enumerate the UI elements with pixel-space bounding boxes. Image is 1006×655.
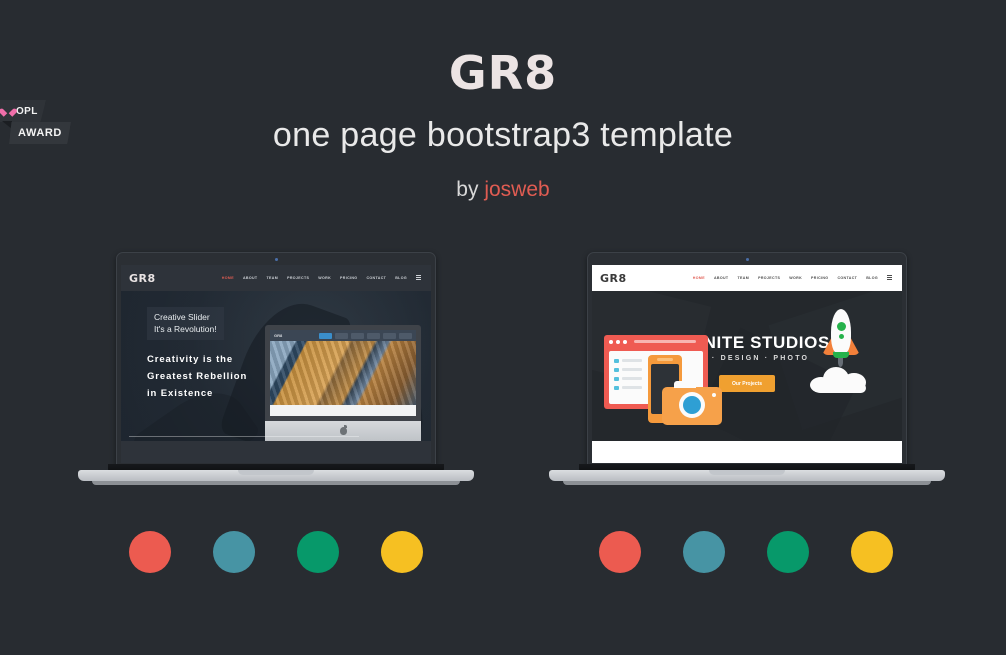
- color-swatch-4[interactable]: [851, 531, 893, 573]
- color-swatch-1[interactable]: [129, 531, 171, 573]
- color-swatch-2[interactable]: [683, 531, 725, 573]
- laptop-mockup-left: GR8 HOMEABOUTTEAMPROJECTSWORKPRICINGCONT…: [78, 252, 474, 488]
- webcam-icon: [746, 258, 749, 261]
- color-swatch-3[interactable]: [767, 531, 809, 573]
- laptop-screen: GR8 HOMEABOUTTEAMPROJECTSWORKPRICINGCONT…: [121, 265, 431, 463]
- camera-lens: [683, 396, 701, 414]
- nav-item-projects[interactable]: PROJECTS: [287, 276, 309, 280]
- nav-item-about[interactable]: ABOUT: [243, 276, 258, 280]
- camera-flash: [712, 393, 716, 397]
- browser-titlebar: [604, 335, 708, 348]
- laptop-notch: [238, 470, 314, 475]
- imac-nav-item: [383, 333, 396, 339]
- rocket-body: [831, 309, 851, 355]
- laptop-foot: [563, 481, 931, 485]
- nav-item-pricing[interactable]: PRICING: [340, 276, 357, 280]
- page-tagline: one page bootstrap3 template: [0, 116, 1006, 155]
- hero-title-line: Greatest Rebellion: [147, 368, 247, 385]
- nav-item-work[interactable]: WORK: [318, 276, 331, 280]
- hero-footer-bar: [121, 441, 431, 463]
- browser-dot: [623, 340, 627, 344]
- imac-nav-item: [367, 333, 380, 339]
- site-nav-items: HOMEABOUTTEAMPROJECTSWORKPRICINGCONTACTB…: [693, 275, 894, 281]
- hero-subtitle-line: It's a Revolution!: [154, 323, 217, 335]
- phone-speaker: [657, 358, 673, 361]
- nav-item-blog[interactable]: BLOG: [866, 276, 878, 280]
- webcam-icon: [275, 258, 278, 261]
- nav-item-contact[interactable]: CONTACT: [366, 276, 386, 280]
- byline-prefix: by: [456, 178, 478, 201]
- hero-title: Creativity is the Greatest Rebellion in …: [147, 351, 247, 402]
- slider-progress-bar[interactable]: [129, 436, 359, 438]
- hero-title-line: Creativity is the: [147, 351, 247, 368]
- browser-dot: [609, 340, 613, 344]
- imac-nav-item: [399, 333, 412, 339]
- site-logo[interactable]: GR8: [600, 272, 627, 285]
- flat-illustration: [604, 335, 726, 425]
- imac-nav-items: [319, 333, 412, 339]
- apple-icon: [340, 427, 347, 435]
- laptop-foot: [92, 481, 460, 485]
- hamburger-icon[interactable]: [887, 275, 892, 281]
- camera-viewfinder: [674, 381, 696, 388]
- hamburger-icon[interactable]: [416, 275, 421, 281]
- nav-item-work[interactable]: WORK: [789, 276, 802, 280]
- color-swatch-4[interactable]: [381, 531, 423, 573]
- imac-nav-item-active: [319, 333, 332, 339]
- byline-author[interactable]: josweb: [484, 178, 549, 201]
- nav-item-about[interactable]: ABOUT: [714, 276, 729, 280]
- site-nav-items: HOMEABOUTTEAMPROJECTSWORKPRICINGCONTACTB…: [222, 275, 423, 281]
- nav-item-contact[interactable]: CONTACT: [837, 276, 857, 280]
- hero-subtitle-line: Creative Slider: [154, 311, 217, 323]
- nav-item-projects[interactable]: PROJECTS: [758, 276, 780, 280]
- rocket-window: [837, 322, 846, 331]
- color-swatch-1[interactable]: [599, 531, 641, 573]
- color-swatch-3[interactable]: [297, 531, 339, 573]
- imac-nav-item: [335, 333, 348, 339]
- imac-photo-staircase: [270, 341, 416, 405]
- imac-screen: GR8: [265, 325, 421, 421]
- nav-item-pricing[interactable]: PRICING: [811, 276, 828, 280]
- laptop-mockup-right: GR8 HOMEABOUTTEAMPROJECTSWORKPRICINGCONT…: [549, 252, 945, 488]
- page-title: GR8: [0, 46, 1006, 100]
- hero-footer-bar: [592, 441, 902, 463]
- rocket-icon: [818, 309, 864, 367]
- laptop-notch: [709, 470, 785, 475]
- hero-section: Creative Slider It's a Revolution! Creat…: [121, 291, 431, 463]
- cloud-icon: [810, 365, 872, 391]
- browser-url-bar: [634, 340, 696, 343]
- nav-item-team[interactable]: TEAM: [737, 276, 749, 280]
- camera-icon: [662, 387, 722, 425]
- poster-canvas: OPL AWARD GR8 one page bootstrap3 templa…: [0, 0, 1006, 655]
- rocket-window-small: [839, 334, 844, 339]
- nav-item-home[interactable]: HOME: [222, 276, 234, 280]
- byline: by josweb: [0, 178, 1006, 202]
- laptop-lid: GR8 HOMEABOUTTEAMPROJECTSWORKPRICINGCONT…: [587, 252, 907, 468]
- hero-subtitle: Creative Slider It's a Revolution!: [147, 307, 224, 340]
- imac-photo-caption-bar: [270, 405, 416, 416]
- our-projects-button[interactable]: Our Projects: [719, 375, 775, 392]
- imac-chin: [265, 421, 421, 441]
- laptop-screen: GR8 HOMEABOUTTEAMPROJECTSWORKPRICINGCONT…: [592, 265, 902, 463]
- color-swatch-2[interactable]: [213, 531, 255, 573]
- nav-item-home[interactable]: HOME: [693, 276, 705, 280]
- imac-mockup: GR8: [265, 325, 421, 459]
- imac-nav-item: [351, 333, 364, 339]
- site-navbar: GR8 HOMEABOUTTEAMPROJECTSWORKPRICINGCONT…: [592, 265, 902, 291]
- color-swatches-right: [599, 531, 893, 573]
- heart-icon: [3, 106, 13, 116]
- site-navbar: GR8 HOMEABOUTTEAMPROJECTSWORKPRICINGCONT…: [121, 265, 431, 291]
- badge-top-label: OPL: [16, 106, 38, 117]
- hero-section: GRANITE STUDIOS WEB · DESIGN · PHOTO Our…: [592, 291, 902, 463]
- hero-title-line: in Existence: [147, 385, 247, 402]
- imac-nav-logo: GR8: [274, 333, 282, 338]
- site-logo[interactable]: GR8: [129, 272, 156, 285]
- color-swatches-left: [129, 531, 423, 573]
- browser-dot: [616, 340, 620, 344]
- imac-navbar: GR8: [270, 330, 416, 341]
- nav-item-blog[interactable]: BLOG: [395, 276, 407, 280]
- laptop-lid: GR8 HOMEABOUTTEAMPROJECTSWORKPRICINGCONT…: [116, 252, 436, 468]
- nav-item-team[interactable]: TEAM: [266, 276, 278, 280]
